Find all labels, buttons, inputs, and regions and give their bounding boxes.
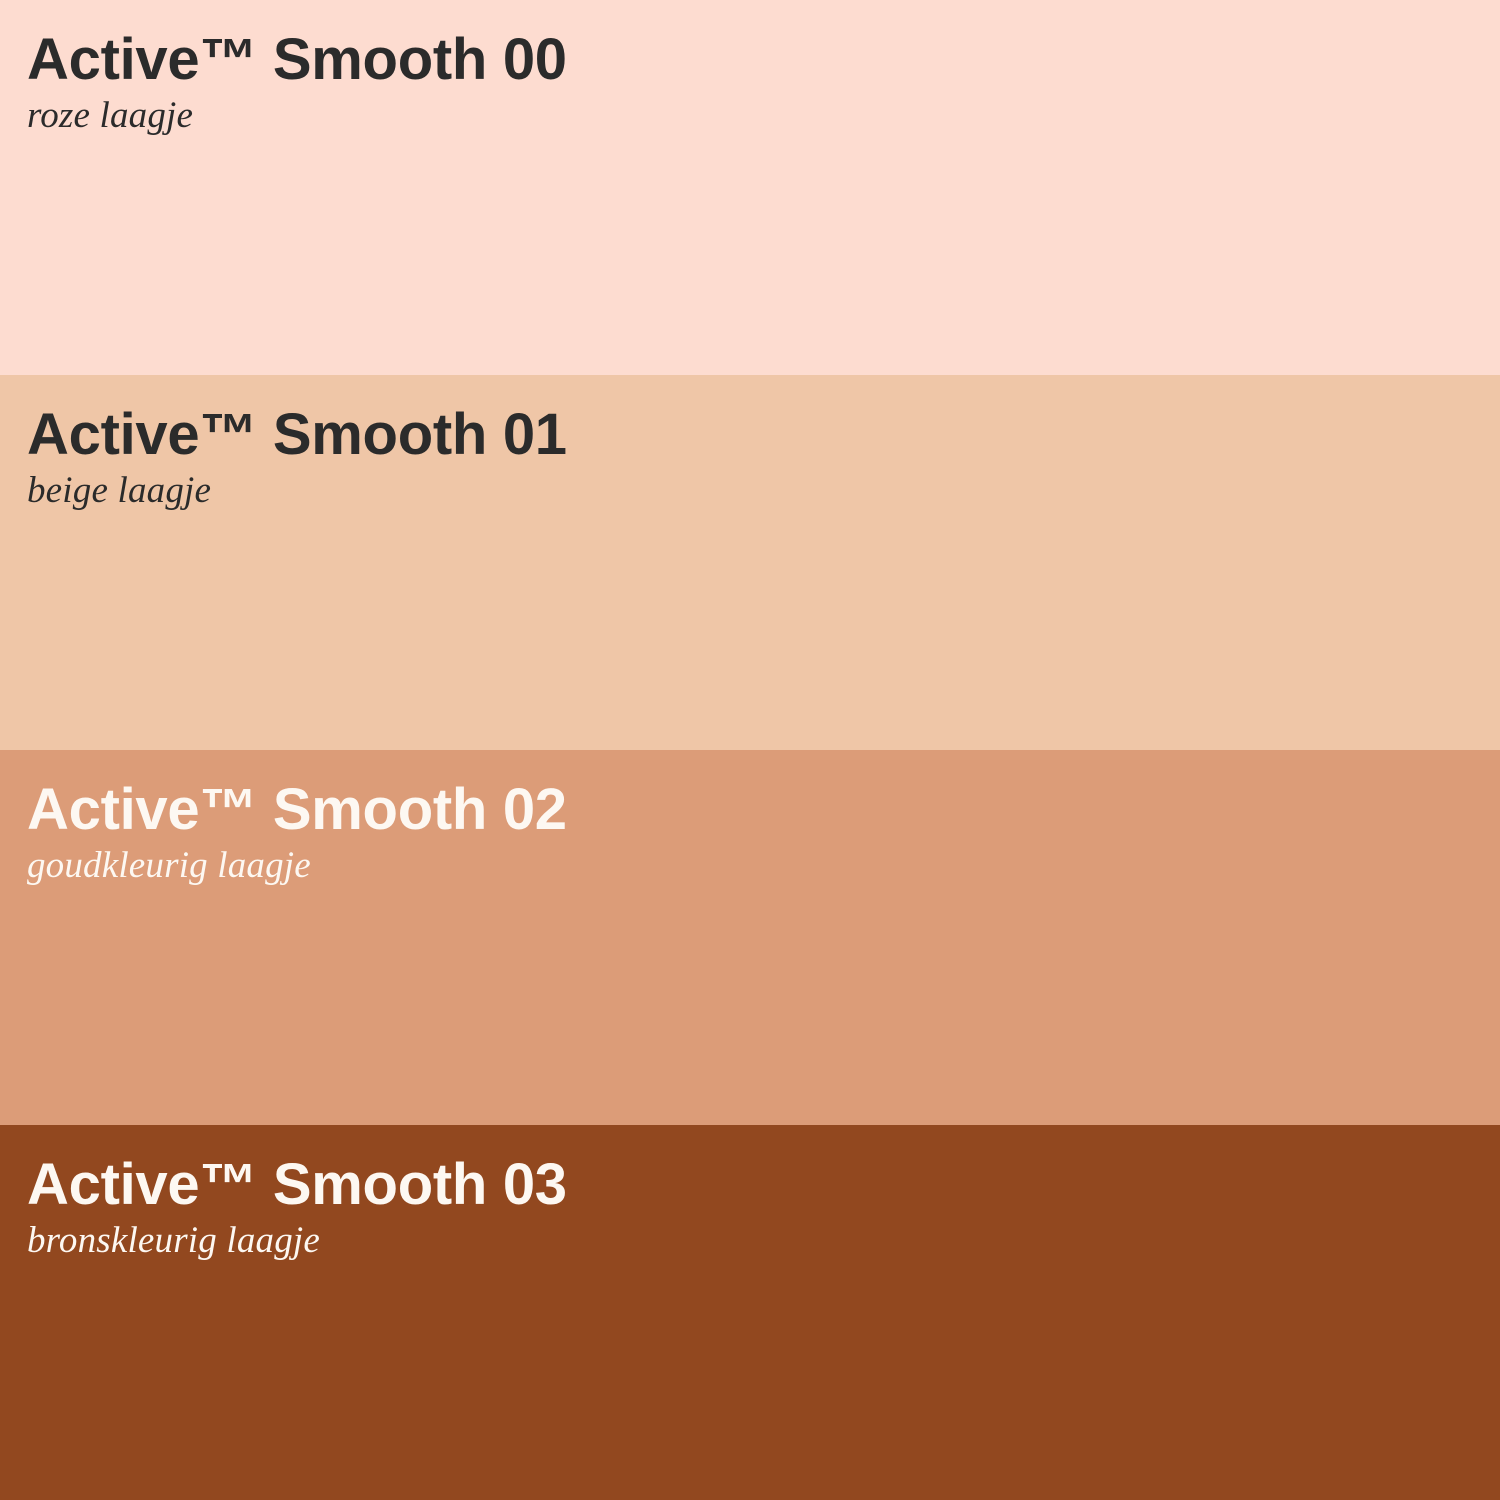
shade-band-02-title: Active™ Smooth 02: [27, 780, 1500, 839]
shade-band-03: Active™ Smooth 03 bronskleurig laagje: [0, 1125, 1500, 1500]
shade-band-02-subtitle: goudkleurig laagje: [27, 839, 1500, 886]
shade-swatch-stack: Active™ Smooth 00 roze laagje Active™ Sm…: [0, 0, 1500, 1500]
shade-band-00-subtitle: roze laagje: [27, 89, 1500, 136]
shade-band-00: Active™ Smooth 00 roze laagje: [0, 0, 1500, 375]
shade-band-03-subtitle: bronskleurig laagje: [27, 1214, 1500, 1261]
shade-band-02: Active™ Smooth 02 goudkleurig laagje: [0, 750, 1500, 1125]
shade-band-01: Active™ Smooth 01 beige laagje: [0, 375, 1500, 750]
shade-band-01-subtitle: beige laagje: [27, 464, 1500, 511]
shade-band-01-title: Active™ Smooth 01: [27, 405, 1500, 464]
shade-band-00-title: Active™ Smooth 00: [27, 30, 1500, 89]
shade-band-03-title: Active™ Smooth 03: [27, 1155, 1500, 1214]
